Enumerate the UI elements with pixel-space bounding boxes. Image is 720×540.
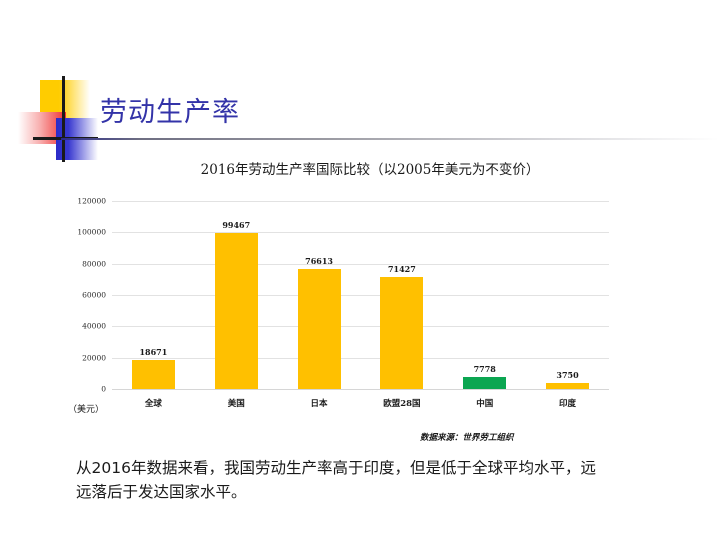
chart-bar[interactable]: 18671 <box>132 360 175 389</box>
chart-bar[interactable]: 99467 <box>215 233 258 389</box>
x-axis-tick-label: 欧盟28国 <box>383 397 420 409</box>
y-axis-tick-label: 80000 <box>82 259 106 268</box>
bar-value-label: 71427 <box>388 264 416 274</box>
y-axis-tick-label: 60000 <box>82 291 106 300</box>
bar-chart: 2016年劳动生产率国际比较（以2005年美元为不变价） 12000010000… <box>60 150 660 450</box>
chart-plot-area: 120000100000800006000040000200000 18671全… <box>112 201 609 389</box>
gridline: 0 <box>112 389 609 390</box>
y-axis-tick-label: 0 <box>101 385 106 394</box>
chart-source-note: 数据来源：世界劳工组织 <box>420 431 514 443</box>
page-title: 劳动生产率 <box>100 96 240 130</box>
bar-slot: 99467美国 <box>195 201 278 389</box>
chart-bar[interactable]: 76613 <box>298 269 341 389</box>
chart-bar[interactable]: 7778 <box>463 377 506 389</box>
title-divider <box>61 138 719 140</box>
y-axis-tick-label: 20000 <box>82 353 106 362</box>
chart-bar[interactable]: 3750 <box>546 383 589 389</box>
bar-value-label: 76613 <box>305 256 333 266</box>
y-axis-tick-label: 120000 <box>77 197 106 206</box>
chart-bars: 18671全球99467美国76613日本71427欧盟28国7778中国375… <box>112 201 609 389</box>
x-axis-tick-label: 美国 <box>228 397 245 409</box>
bar-slot: 71427欧盟28国 <box>360 201 443 389</box>
slide-canvas: 劳动生产率 2016年劳动生产率国际比较（以2005年美元为不变价） 12000… <box>0 0 720 540</box>
bar-value-label: 99467 <box>222 220 250 230</box>
x-axis-tick-label: 日本 <box>311 397 328 409</box>
body-paragraph: 从2016年数据来看，我国劳动生产率高于印度，但是低于全球平均水平，远远落后于发… <box>76 456 604 504</box>
bar-slot: 7778中国 <box>443 201 526 389</box>
x-axis-tick-label: 印度 <box>559 397 576 409</box>
y-axis-unit-label: （美元） <box>68 402 104 415</box>
x-axis-tick-label: 中国 <box>476 397 493 409</box>
bar-value-label: 7778 <box>474 364 496 374</box>
chart-bar[interactable]: 71427 <box>380 277 423 389</box>
bar-value-label: 18671 <box>139 347 167 357</box>
x-axis-tick-label: 全球 <box>145 397 162 409</box>
chart-title: 2016年劳动生产率国际比较（以2005年美元为不变价） <box>135 158 605 178</box>
bar-slot: 18671全球 <box>112 201 195 389</box>
bar-slot: 76613日本 <box>278 201 361 389</box>
y-axis-tick-label: 40000 <box>82 322 106 331</box>
y-axis-tick-label: 100000 <box>77 228 106 237</box>
bar-value-label: 3750 <box>556 370 578 380</box>
bar-slot: 3750印度 <box>526 201 609 389</box>
